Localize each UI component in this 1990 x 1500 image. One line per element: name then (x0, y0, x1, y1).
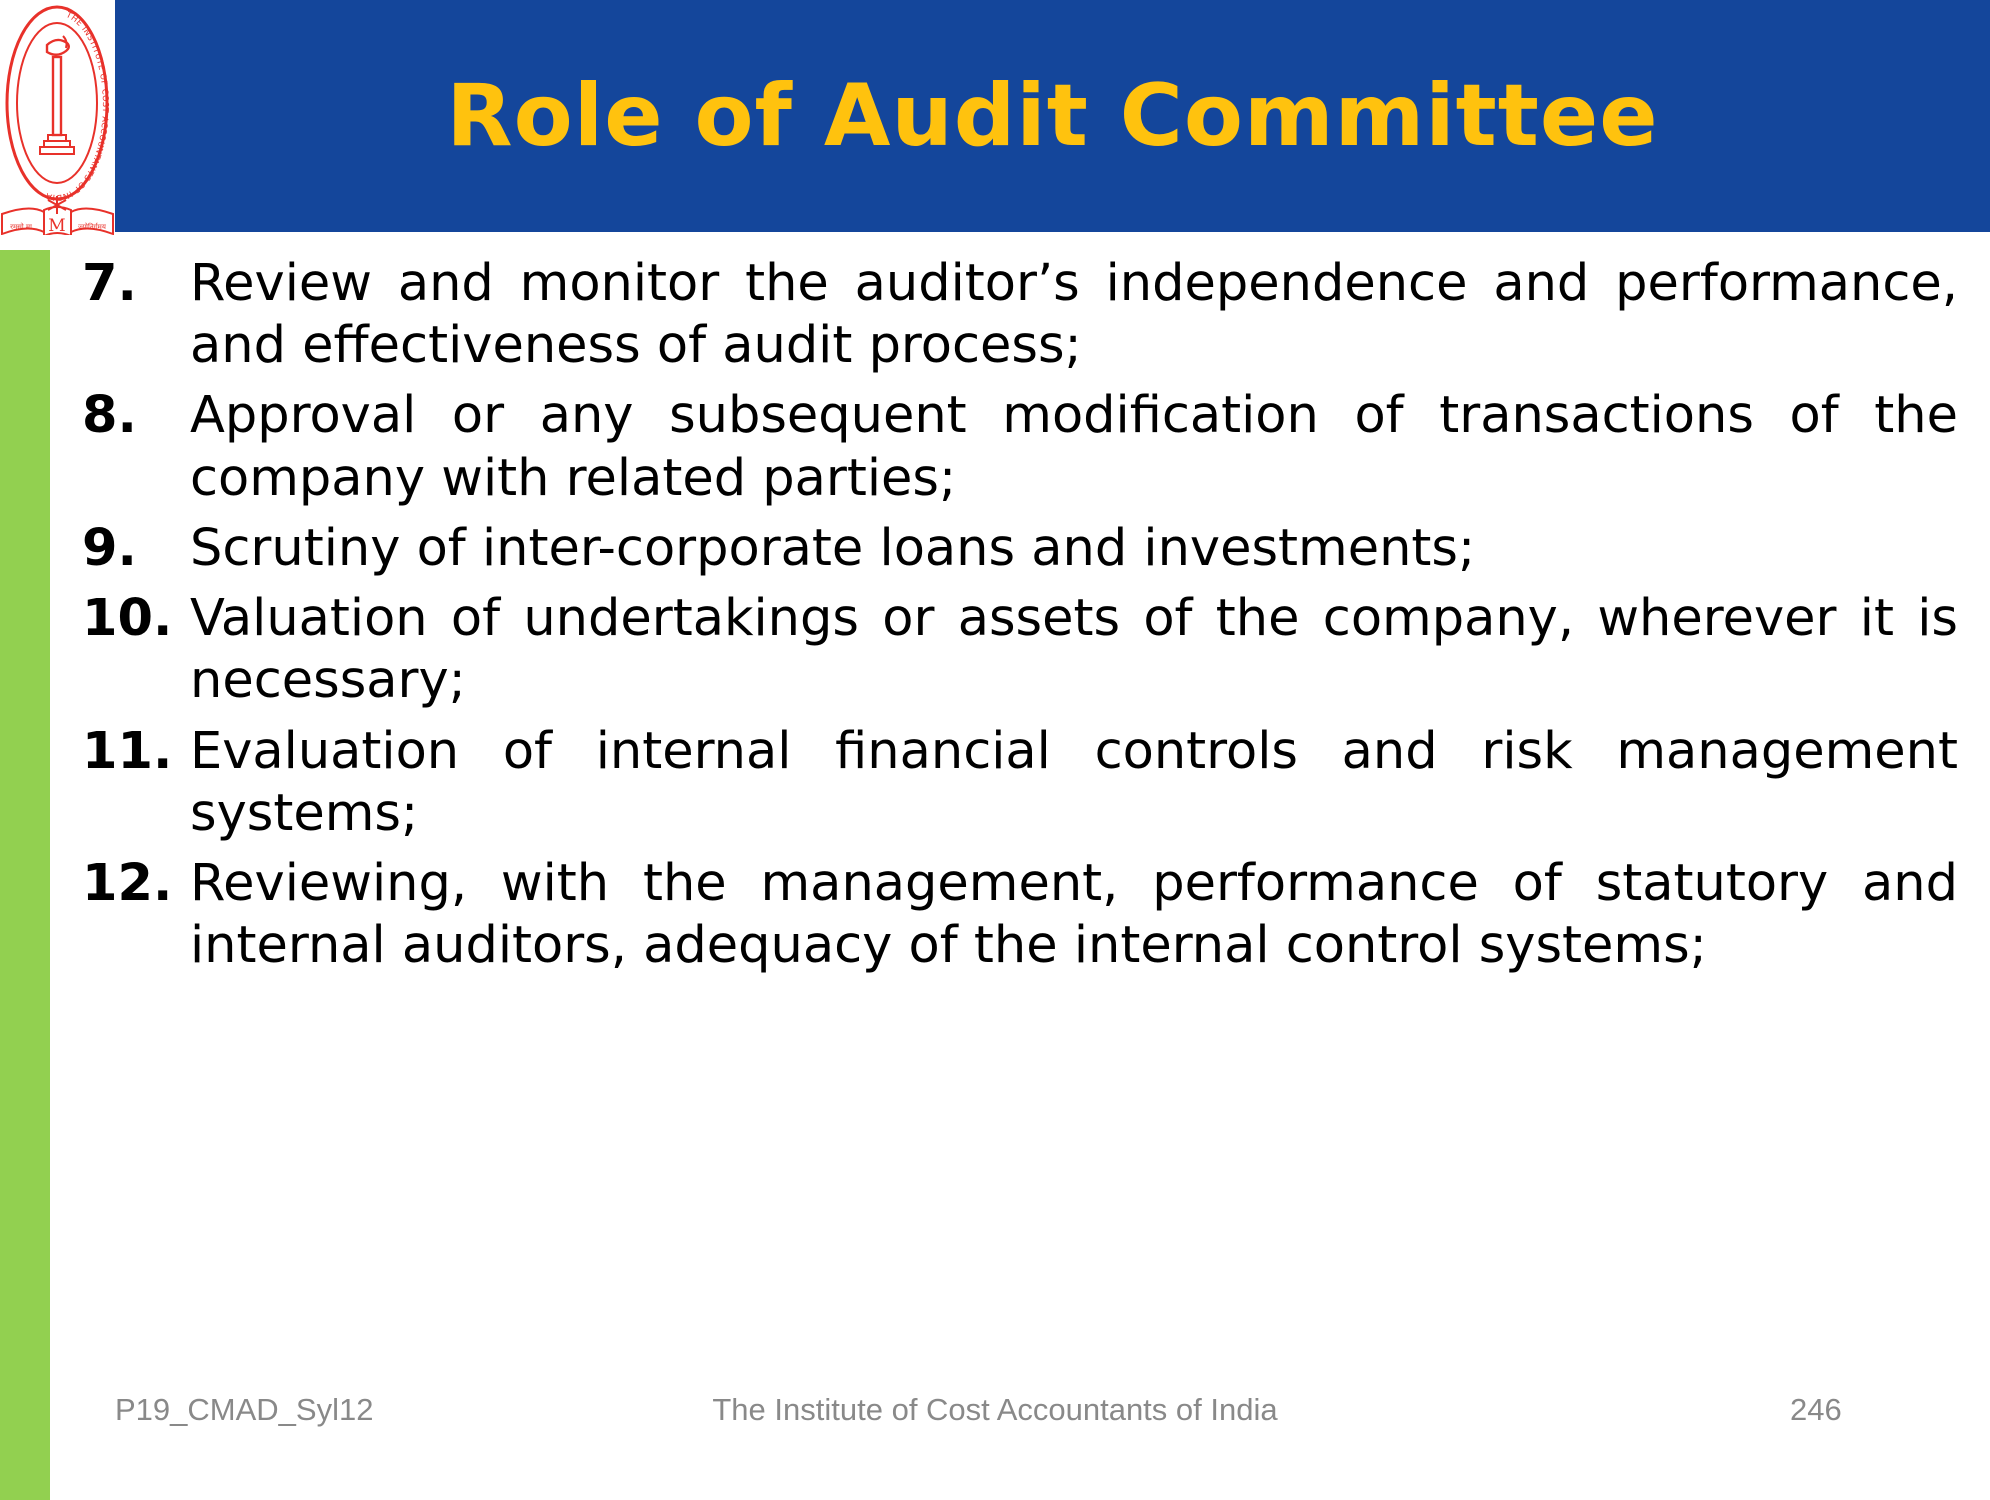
list-item-text: Reviewing, with the management, performa… (190, 853, 1958, 977)
footer-page-number: 246 (1790, 1392, 1842, 1428)
left-accent-bar (0, 250, 50, 1500)
list-item: 9. Scrutiny of inter-corporate loans and… (78, 518, 1958, 580)
list-item: 12. Reviewing, with the management, perf… (78, 853, 1958, 977)
slide-footer: P19_CMAD_Syl12 The Institute of Cost Acc… (0, 1392, 1990, 1452)
list-item-number: 9. (78, 518, 190, 580)
list-item: 10. Valuation of undertakings or assets … (78, 588, 1958, 712)
list-item: 7. Review and monitor the auditor’s inde… (78, 253, 1958, 377)
footer-organization: The Institute of Cost Accountants of Ind… (0, 1392, 1990, 1428)
institute-emblem-icon: THE INSTITUTE OF COST ACCOUNTANTS OF IND… (0, 0, 115, 235)
list-item-text: Evaluation of internal financial control… (190, 721, 1958, 845)
svg-text:ज्योतिर्गमय: ज्योतिर्गमय (78, 222, 107, 231)
svg-text:M: M (48, 216, 65, 235)
list-item-text: Review and monitor the auditor’s indepen… (190, 253, 1958, 377)
svg-text:THE INSTITUTE OF COST ACCOUNTA: THE INSTITUTE OF COST ACCOUNTANTS OF IND… (44, 9, 111, 203)
list-item-text: Scrutiny of inter-corporate loans and in… (190, 518, 1958, 580)
list-item-number: 8. (78, 385, 190, 447)
bullet-list: 7. Review and monitor the auditor’s inde… (78, 253, 1958, 985)
list-item-number: 10. (78, 588, 190, 650)
list-item-number: 12. (78, 853, 190, 915)
list-item-text: Valuation of undertakings or assets of t… (190, 588, 1958, 712)
list-item: 8. Approval or any subsequent modificati… (78, 385, 1958, 509)
svg-text:रमसो मा: रमसो मा (10, 222, 32, 231)
list-item-number: 11. (78, 721, 190, 783)
institute-logo: THE INSTITUTE OF COST ACCOUNTANTS OF IND… (0, 0, 115, 235)
list-item-number: 7. (78, 253, 190, 315)
page-title: Role of Audit Committee (115, 0, 1990, 232)
list-item-text: Approval or any subsequent modification … (190, 385, 1958, 509)
list-item: 11. Evaluation of internal financial con… (78, 721, 1958, 845)
